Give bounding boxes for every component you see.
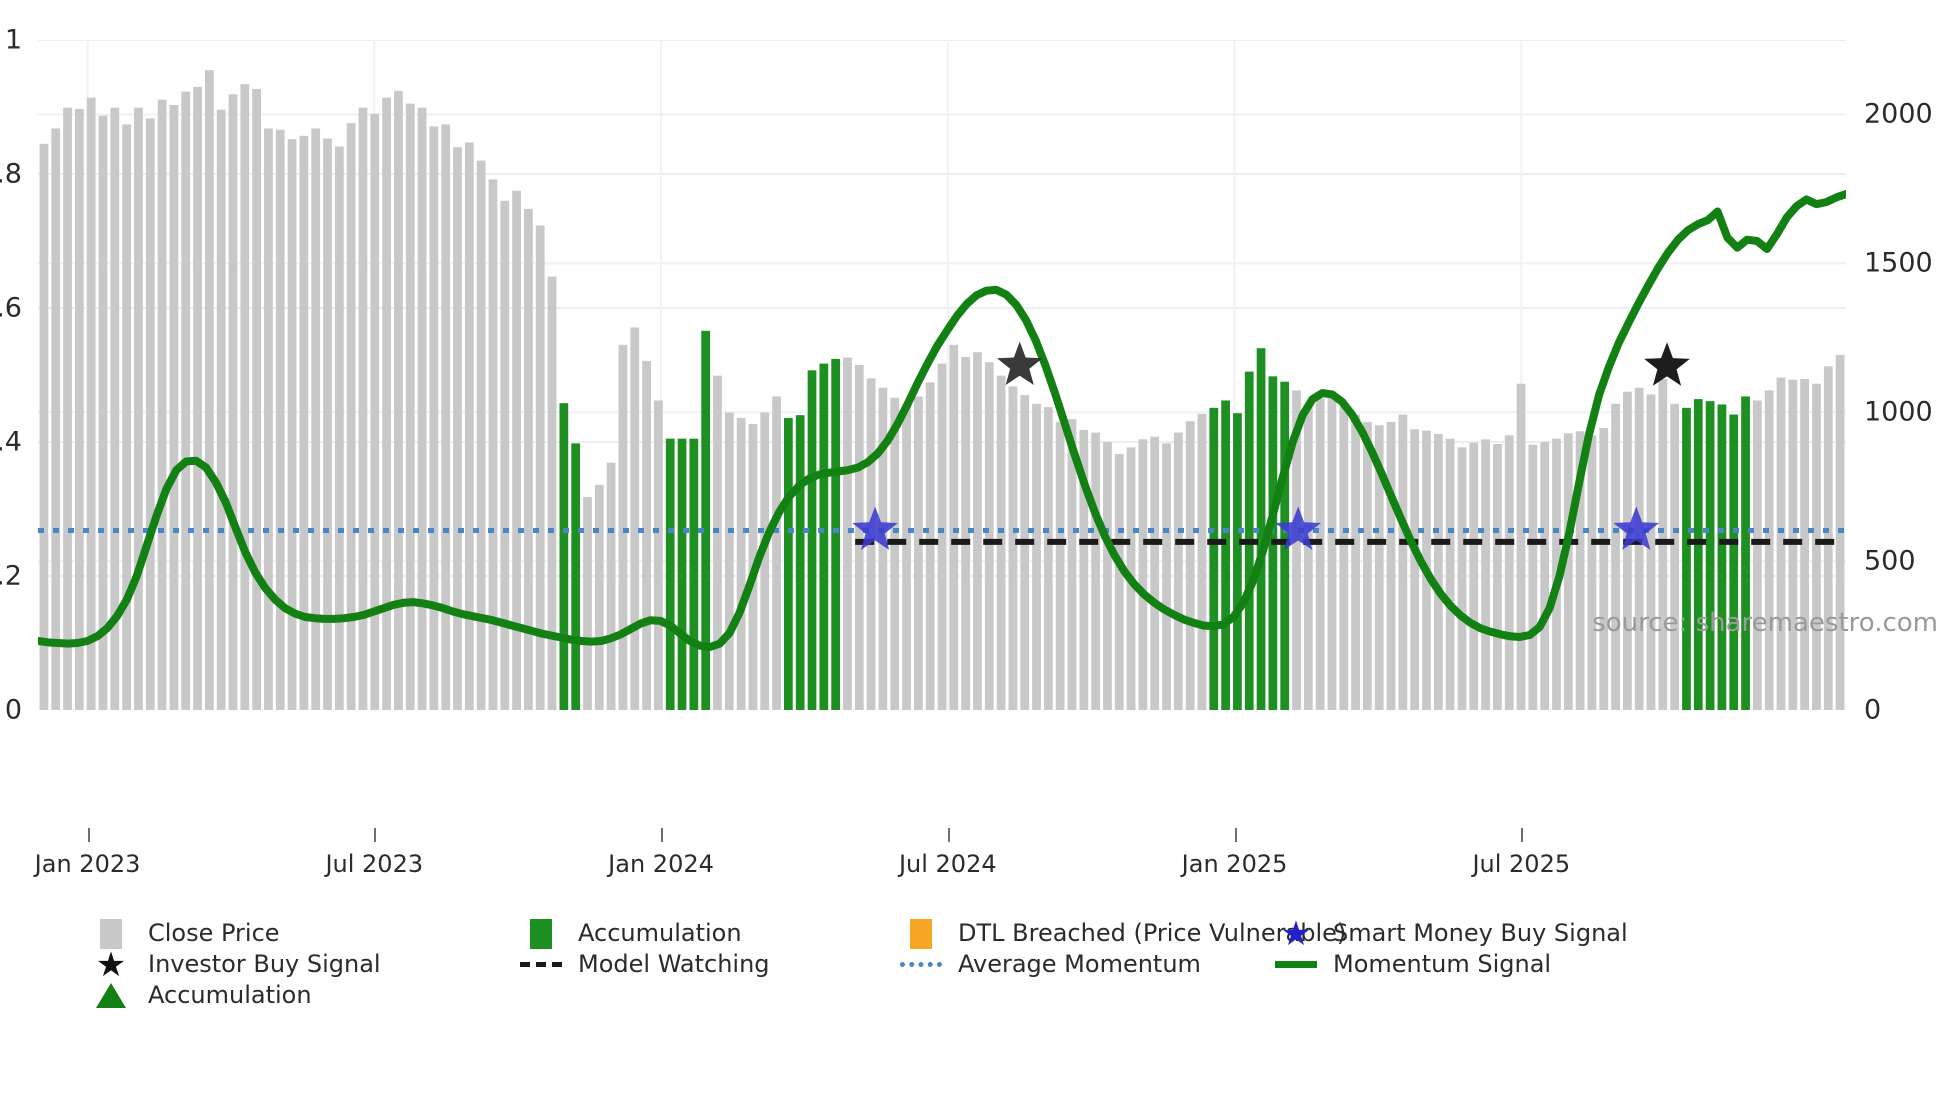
legend-label: Smart Money Buy Signal xyxy=(1333,918,1628,949)
x-axis-tick-label: Jul 2023 xyxy=(325,850,423,878)
square-icon xyxy=(88,919,134,949)
legend-row: Accumulation xyxy=(88,980,1888,1011)
chart-legend: Close PriceAccumulationDTL Breached (Pri… xyxy=(88,918,1888,1011)
y-axis-right-tick: 2000 xyxy=(1864,99,1933,130)
triangle-up-icon xyxy=(88,983,134,1008)
legend-item[interactable]: Average Momentum xyxy=(898,949,1201,980)
plot-area xyxy=(38,40,1846,710)
legend-label: Investor Buy Signal xyxy=(148,949,381,980)
square-icon xyxy=(898,919,944,949)
x-axis-tick-mark xyxy=(1235,828,1237,842)
x-axis-tick-label: Jan 2023 xyxy=(35,850,141,878)
y-axis-left-tick: 0.6 xyxy=(0,293,22,324)
legend-item[interactable]: ★Investor Buy Signal xyxy=(88,949,381,980)
legend-item[interactable]: Accumulation xyxy=(88,980,312,1011)
x-axis-tick-mark xyxy=(661,828,663,842)
y-axis-right-tick: 1000 xyxy=(1864,397,1933,428)
x-axis-tick-mark xyxy=(1521,828,1523,842)
x-axis-tick-label: Jan 2024 xyxy=(608,850,714,878)
legend-label: Average Momentum xyxy=(958,949,1201,980)
legend-label: Momentum Signal xyxy=(1333,949,1551,980)
x-axis-tick-mark xyxy=(948,828,950,842)
legend-item[interactable]: Accumulation xyxy=(518,918,742,949)
legend-item[interactable]: ★Smart Money Buy Signal xyxy=(1273,918,1628,949)
legend-row: Close PriceAccumulationDTL Breached (Pri… xyxy=(88,918,1888,949)
legend-item[interactable]: Momentum Signal xyxy=(1273,949,1551,980)
legend-row: ★Investor Buy SignalModel WatchingAverag… xyxy=(88,949,1888,980)
y-axis-right-tick: 0 xyxy=(1864,695,1881,726)
legend-label: Close Price xyxy=(148,918,280,949)
solid-line-icon xyxy=(1273,961,1319,968)
chart-page: 00.20.40.60.81 0500100015002000 Jan 2023… xyxy=(0,0,1960,1102)
x-axis-tick-mark xyxy=(374,828,376,842)
legend-item[interactable]: Model Watching xyxy=(518,949,770,980)
y-axis-left-tick: 0.4 xyxy=(0,427,22,458)
star-icon: ★ xyxy=(1273,919,1319,949)
x-axis-tick-label: Jul 2024 xyxy=(899,850,997,878)
y-axis-left-tick: 0 xyxy=(5,695,22,726)
dotted-line-icon xyxy=(898,962,944,967)
x-axis-tick-mark xyxy=(88,828,90,842)
y-axis-right-tick: 500 xyxy=(1864,546,1916,577)
square-icon xyxy=(518,919,564,949)
x-axis-tick-label: Jul 2025 xyxy=(1472,850,1570,878)
x-axis-tick-label: Jan 2025 xyxy=(1182,850,1288,878)
star-icon: ★ xyxy=(88,950,134,980)
y-axis-left-tick: 1 xyxy=(5,25,22,56)
y-axis-left-tick: 0.2 xyxy=(0,561,22,592)
chart-canvas xyxy=(38,40,1846,710)
legend-label: Accumulation xyxy=(148,980,312,1011)
dashed-line-icon xyxy=(518,962,564,967)
legend-label: Model Watching xyxy=(578,949,770,980)
source-attribution: source: sharemaestro.com xyxy=(1592,608,1938,638)
y-axis-left-tick: 0.8 xyxy=(0,159,22,190)
legend-label: Accumulation xyxy=(578,918,742,949)
y-axis-right-tick: 1500 xyxy=(1864,248,1933,279)
